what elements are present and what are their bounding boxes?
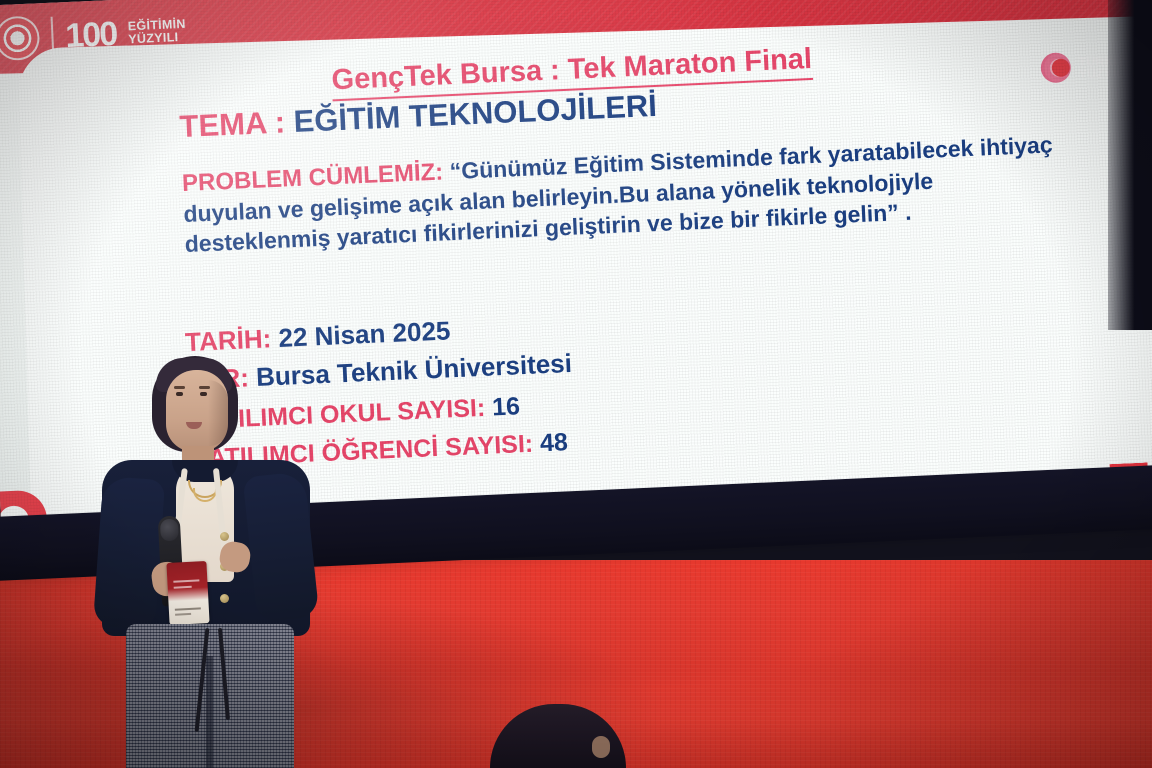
meb-seal-icon [0,15,40,61]
presenter-eyebrow-left [174,386,185,389]
badge-line [174,586,192,589]
conference-badge [166,561,209,625]
screen-bezel-right [1108,0,1152,330]
tarih-label: TARİH: [184,323,271,357]
slide-row-problem: PROBLEM CÜMLEMİZ: “Günümüz Eğitim Sistem… [181,130,1064,261]
presenter-face [166,370,228,452]
problem-value: “Günümüz Eğitim Sisteminde fark yaratabi… [183,131,1053,257]
badge-line [175,613,191,616]
tema-label: TEMA : [179,104,286,144]
badge-line [173,579,199,582]
crescent-star-icon [1040,53,1070,83]
okul-sayisi-value: 16 [491,392,520,421]
audience-ear [592,736,610,758]
meb-logo: 100 EĞİTİMİN YÜZYILI [0,9,187,61]
presenter-eye-left [176,392,183,396]
presenter-figure [96,356,326,768]
presenter-arm-left [93,476,165,630]
presenter-leg-gap [206,656,213,768]
presenter-button [220,532,229,541]
logo-100-text: EĞİTİMİN YÜZYILI [128,18,187,46]
logo-100-number: 100 [65,17,117,53]
badge-line [175,607,201,610]
presenter-button [220,594,229,603]
logo-divider [51,17,55,57]
presenter-eyebrow-right [199,386,210,389]
ogrenci-sayisi-value: 48 [539,428,568,457]
tarih-value: 22 Nisan 2025 [278,315,451,353]
presenter-eye-right [200,392,207,396]
slide-row-tarih: TARİH: 22 Nisan 2025 [184,315,451,358]
logo-100-line2: YÜZYILI [128,31,186,46]
photo-scene: 100 EĞİTİMİN YÜZYILI TÜRKİYE YÜZYILI Gen… [0,0,1152,768]
